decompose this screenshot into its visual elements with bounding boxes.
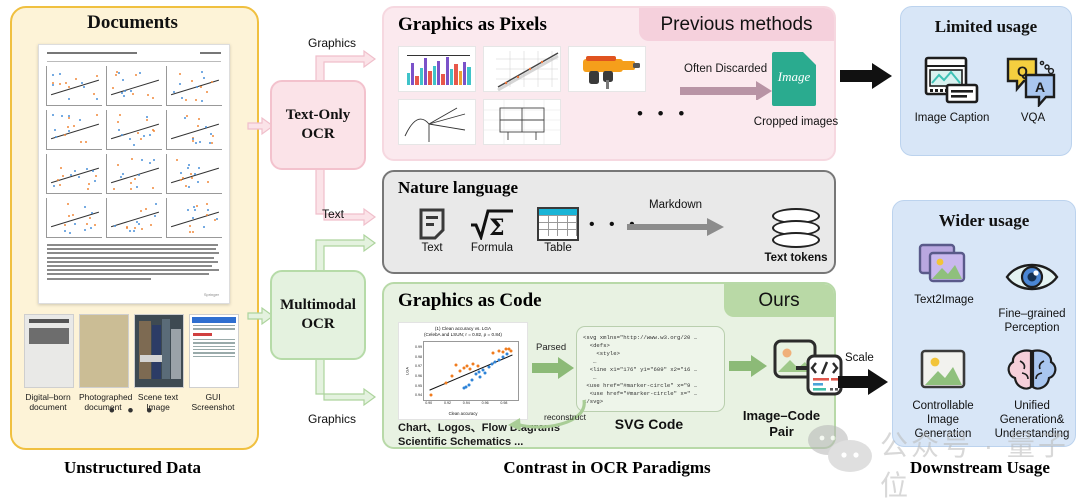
- mini-plot-dot: [184, 117, 186, 119]
- mini-plot-dot: [118, 129, 120, 131]
- page-figure-grid: [46, 66, 222, 238]
- mini-plot-dot: [188, 186, 190, 188]
- thumb-caption-line1: Digital–born: [25, 392, 70, 402]
- mini-plot-dot: [89, 217, 91, 219]
- mini-plot-dot: [139, 72, 141, 74]
- chart-point: [501, 355, 504, 358]
- mini-plot-dot: [68, 98, 70, 100]
- chart-ytick: 0.96: [415, 374, 422, 378]
- mini-plot-dot: [143, 135, 145, 137]
- pair-arrow: [729, 354, 769, 378]
- mini-plot-dot: [212, 135, 214, 137]
- mini-plot-dot: [199, 141, 201, 143]
- mini-plot-dot: [130, 90, 132, 92]
- mini-plot-dot: [138, 223, 140, 225]
- mini-plot-dot: [96, 98, 98, 100]
- markdown-label: Markdown: [649, 199, 702, 211]
- mini-plot-dot: [205, 126, 207, 128]
- mini-plot-dot: [136, 186, 138, 188]
- chart-ytick: 0.94: [415, 393, 422, 397]
- parsed-arrow: [532, 356, 576, 380]
- cropped-image-file-icon: Image: [772, 52, 816, 106]
- mini-plot-dot: [124, 90, 126, 92]
- mini-plot-dot: [94, 224, 96, 226]
- scene-text-image: [134, 314, 184, 388]
- often-discarded-arrow: [680, 78, 780, 100]
- mini-plot-dot: [207, 181, 209, 183]
- mini-plot-dot: [86, 223, 88, 225]
- chart-point: [458, 370, 461, 373]
- mini-plot-dot: [117, 164, 119, 166]
- mini-plot-dot: [132, 93, 134, 95]
- mini-plot-dot: [70, 174, 72, 176]
- mini-plot-dot: [197, 181, 199, 183]
- chart-point: [498, 359, 501, 362]
- thumbnail-item-gui-screenshot[interactable]: GUI Screenshot: [189, 314, 237, 412]
- chart-point: [469, 367, 472, 370]
- chart-point: [465, 386, 468, 389]
- mini-plot-dot: [74, 223, 76, 225]
- thumbnail-item-scene-text[interactable]: Scene text Image: [134, 314, 182, 412]
- ours-ribbon: Ours: [724, 284, 834, 317]
- chart-title-line2: (CelebA and LSUN; r = 0.82, ρ = 0.84): [424, 332, 502, 337]
- multimodal-ocr-line2: OCR: [301, 316, 334, 332]
- graphics-as-code-panel: Ours Graphics as Code (1) Clean accuracy…: [382, 282, 836, 449]
- mini-plot-dot: [206, 91, 208, 93]
- mini-plot-dot: [135, 74, 137, 76]
- mini-plot-dot: [120, 176, 122, 178]
- mini-plot-dot: [181, 97, 183, 99]
- mini-plot-dot: [173, 91, 175, 93]
- mini-plot-dot: [193, 206, 195, 208]
- chart-point: [479, 375, 482, 378]
- previous-methods-ribbon: Previous methods: [639, 8, 834, 41]
- mini-plot-dot: [146, 116, 148, 118]
- wider-usage-card: Wider usage Text2Image Fine–grained Perc…: [892, 200, 1076, 447]
- mini-plot-dot: [85, 141, 87, 143]
- mini-plot: [106, 198, 162, 238]
- mini-plot-dot: [68, 215, 70, 217]
- chart-point: [444, 382, 447, 385]
- mini-plot-dot: [200, 86, 202, 88]
- mini-plot-dot: [185, 99, 187, 101]
- pixels-ellipsis: • • •: [637, 104, 689, 124]
- controllable-image-icon: [915, 347, 971, 395]
- page-header-rule: [47, 52, 221, 62]
- mini-plot-dot: [96, 75, 98, 77]
- mini-plot-dot: [84, 206, 86, 208]
- mini-plot-dot: [75, 78, 77, 80]
- use-item-text2image[interactable]: Text2Image: [901, 241, 987, 307]
- mini-plot-dot: [54, 129, 56, 131]
- mini-plot-dot: [133, 230, 135, 232]
- mini-plot-dot: [214, 219, 216, 221]
- chart-plot-area: 0.940.950.960.970.980.990.900.920.940.96…: [423, 341, 519, 401]
- often-discarded-label: Often Discarded: [684, 63, 767, 75]
- cropped-images-caption: Cropped images: [736, 116, 856, 128]
- mini-plot-dot: [145, 208, 147, 210]
- mini-plot-dot: [94, 180, 96, 182]
- chart-point: [429, 393, 432, 396]
- chart-point: [471, 363, 474, 366]
- mini-plot-dot: [192, 231, 194, 233]
- mini-plot-dot: [52, 84, 54, 86]
- chart-point: [487, 366, 490, 369]
- text-icon: [419, 208, 445, 240]
- mini-plot-dot: [78, 176, 80, 178]
- mini-plot-dot: [134, 178, 136, 180]
- mini-plot-dot: [196, 205, 198, 207]
- mini-plot-dot: [95, 175, 97, 177]
- chart-ytick: 0.99: [415, 345, 422, 349]
- documents-ellipsis: • • •: [10, 406, 255, 416]
- mini-plot: [166, 66, 222, 106]
- thumbnail-item-digital-born[interactable]: Digital–born document: [24, 314, 72, 412]
- chart-point: [505, 352, 508, 355]
- mini-plot-dot: [67, 126, 69, 128]
- svg-text:A: A: [1035, 79, 1045, 95]
- document-page-thumbnail: Springer: [38, 44, 230, 304]
- text-tokens-caption: Text tokens: [746, 252, 846, 264]
- mini-plot-dot: [133, 144, 135, 146]
- mini-plot-dot: [195, 99, 197, 101]
- mini-plot-dot: [121, 134, 123, 136]
- mini-plot-dot: [203, 77, 205, 79]
- chart-point: [484, 371, 487, 374]
- limited-usage-title: Limited usage: [901, 17, 1071, 37]
- text-tokens-database-icon: [772, 208, 820, 252]
- mini-plot-dot: [191, 177, 193, 179]
- code-panel-title: Graphics as Code: [398, 290, 542, 312]
- mini-plot: [46, 66, 102, 106]
- edge-label-graphics-bottom: Graphics: [308, 412, 356, 426]
- chart-title-line1: (1) Clean accuracy vs. LGA: [435, 326, 491, 331]
- mini-plot-dot: [131, 158, 133, 160]
- scatter-regression-thumbnail: [483, 46, 561, 92]
- mini-plot-dot: [68, 86, 70, 88]
- mini-plot-dot: [198, 118, 200, 120]
- use-item-image-caption[interactable]: Image Caption: [909, 55, 995, 125]
- documents-title: Documents: [10, 12, 255, 34]
- mini-plot-dot: [90, 227, 92, 229]
- mini-plot-dot: [59, 73, 61, 75]
- mini-plot-dot: [203, 226, 205, 228]
- mini-plot-dot: [206, 214, 208, 216]
- text-item: Text: [400, 206, 464, 254]
- mini-plot-dot: [194, 209, 196, 211]
- pixel-thumbnail-grid: [398, 46, 646, 145]
- graphics-as-pixels-panel: Previous methods Graphics as Pixels: [382, 6, 836, 161]
- mini-plot-dot: [113, 188, 115, 190]
- pair-caption-line2: Pair: [769, 424, 794, 439]
- pair-caption-line1: Image–Code: [743, 408, 820, 423]
- mini-plot-dot: [123, 95, 125, 97]
- mini-plot-dot: [179, 83, 181, 85]
- mini-plot-dot: [211, 142, 213, 144]
- chart-point: [477, 370, 480, 373]
- scatter-thumb-svg: [484, 47, 561, 92]
- table-icon: [537, 207, 579, 241]
- thumbnail-item-photographed[interactable]: Photographed document: [79, 314, 127, 412]
- mini-plot-dot: [122, 79, 124, 81]
- image-code-pair-icon: [772, 336, 844, 400]
- image-caption-label: Image Caption: [909, 111, 995, 125]
- nature-panel-title: Nature language: [398, 178, 518, 198]
- chart-point: [494, 360, 497, 363]
- mini-plot-dot: [201, 100, 203, 102]
- mini-plot-dot: [62, 175, 64, 177]
- chart-point: [470, 378, 473, 381]
- gui-screenshot-image: [189, 314, 239, 388]
- mini-plot-dot: [210, 133, 212, 135]
- vqa-icon: Q A: [1004, 55, 1062, 107]
- mini-plot-dot: [206, 203, 208, 205]
- mini-plot-dot: [195, 142, 197, 144]
- mini-plot-dot: [152, 97, 154, 99]
- mini-plot-dot: [118, 72, 120, 74]
- chart-point: [490, 363, 493, 366]
- chart-point: [476, 364, 479, 367]
- mini-plot-dot: [189, 231, 191, 233]
- chart-point: [498, 349, 501, 352]
- mini-plot-dot: [196, 86, 198, 88]
- mini-plot-dot: [153, 130, 155, 132]
- page-body-text: [47, 244, 221, 280]
- mini-plot-dot: [92, 170, 94, 172]
- center-column-caption: Contrast in OCR Paradigms: [382, 458, 832, 478]
- mini-plot-dot: [141, 228, 143, 230]
- mini-plot: [166, 110, 222, 150]
- mini-plot-dot: [59, 83, 61, 85]
- mini-plot: [106, 66, 162, 106]
- mini-plot-dot: [146, 119, 148, 121]
- mini-plot-dot: [57, 179, 59, 181]
- vqa-label: VQA: [1001, 111, 1065, 125]
- watermark-text: 公众号 · 量子位: [880, 424, 1080, 504]
- image-caption-icon: [923, 55, 981, 107]
- limited-usage-card: Limited usage Image Caption Q A VQA: [900, 6, 1072, 156]
- use-item-vqa[interactable]: Q A VQA: [1001, 55, 1065, 125]
- mini-plot-dot: [73, 125, 75, 127]
- reconstruct-label: reconstruct: [544, 412, 586, 422]
- mini-plot-dot: [188, 164, 190, 166]
- markdown-arrow: [627, 216, 732, 236]
- mini-plot-dot: [186, 115, 188, 117]
- mini-plot-dot: [140, 138, 142, 140]
- chart-xtick: 0.90: [425, 401, 432, 405]
- parsed-label: Parsed: [536, 342, 566, 353]
- mini-plot-dot: [130, 182, 132, 184]
- source-thumbnail-list: Digital–born document Photographed docum…: [24, 314, 242, 412]
- table-item: Table: [526, 206, 590, 254]
- node-text-only-ocr[interactable]: Text-Only OCR: [270, 80, 366, 170]
- mini-plot-dot: [198, 167, 200, 169]
- mini-plot-dot: [211, 81, 213, 83]
- mini-plot-dot: [197, 125, 199, 127]
- svg-text:Σ: Σ: [489, 215, 505, 240]
- chart-point: [501, 351, 504, 354]
- mini-plot-dot: [150, 224, 152, 226]
- mini-plot-dot: [83, 86, 85, 88]
- chart-ylabel: LGA: [405, 367, 410, 375]
- mini-plot-dot: [121, 92, 123, 94]
- mini-plot: [106, 154, 162, 194]
- mini-plot-dot: [192, 217, 194, 219]
- page-footer-text: Springer: [204, 292, 219, 297]
- chart-point: [451, 375, 454, 378]
- mini-plot-dot: [59, 184, 61, 186]
- mini-plot-dot: [134, 227, 136, 229]
- chart-xtick: 0.92: [444, 401, 451, 405]
- mini-plot-dot: [187, 209, 189, 211]
- mini-plot-dot: [80, 141, 82, 143]
- drill-icon: [569, 47, 646, 92]
- mini-plot-dot: [137, 132, 139, 134]
- mini-plot-dot: [68, 117, 70, 119]
- pixels-panel-title: Graphics as Pixels: [398, 14, 547, 36]
- mini-plot-dot: [115, 74, 117, 76]
- formula-item: Σ Formula: [460, 206, 524, 254]
- mini-plot-dot: [207, 209, 209, 211]
- brain-icon: [1004, 347, 1060, 395]
- mini-plot-dot: [140, 210, 142, 212]
- mini-plot-dot: [117, 121, 119, 123]
- node-multimodal-ocr[interactable]: Multimodal OCR: [270, 270, 366, 360]
- mini-plot-dot: [136, 221, 138, 223]
- fine-grained-perception-label: Fine–grained Perception: [991, 307, 1073, 335]
- mini-plot: [46, 198, 102, 238]
- mini-plot-dot: [192, 138, 194, 140]
- mini-plot-dot: [72, 214, 74, 216]
- chart-xtick: 0.96: [482, 401, 489, 405]
- mini-plot-dot: [52, 114, 54, 116]
- left-column-caption: Unstructured Data: [10, 458, 255, 478]
- mini-plot-dot: [93, 93, 95, 95]
- circuit-diagram: [484, 100, 561, 145]
- mini-plot-dot: [129, 230, 131, 232]
- scale-label: Scale: [845, 352, 874, 364]
- nature-language-panel: Nature language Text Σ Formula: [382, 170, 836, 274]
- mini-plot-dot: [192, 140, 194, 142]
- mini-plot-dot: [55, 136, 57, 138]
- mini-plot-dot: [84, 229, 86, 231]
- thumb-caption-line1: GUI: [205, 392, 220, 402]
- mini-plot-dot: [129, 138, 131, 140]
- bar-chart-thumbnail: [398, 46, 476, 92]
- mini-plot-dot: [79, 119, 81, 121]
- mini-plot-dot: [189, 225, 191, 227]
- image-file-label: Image: [772, 69, 816, 85]
- edge-label-graphics-top: Graphics: [308, 36, 356, 50]
- table-item-label: Table: [526, 242, 590, 254]
- mini-plot-dot: [60, 167, 62, 169]
- mini-plot-dot: [187, 167, 189, 169]
- mini-plot-dot: [74, 170, 76, 172]
- mini-plot-dot: [112, 87, 114, 89]
- text-item-label: Text: [400, 242, 464, 254]
- circuit-diagram-thumbnail: [483, 99, 561, 145]
- text2image-icon: [916, 241, 972, 289]
- multimodal-ocr-line1: Multimodal: [280, 297, 356, 313]
- eye-icon: [1004, 255, 1060, 303]
- mini-plot-dot: [87, 188, 89, 190]
- mini-plot-dot: [180, 179, 182, 181]
- mini-plot-dot: [149, 134, 151, 136]
- mini-plot-dot: [64, 134, 66, 136]
- chart-point: [491, 352, 494, 355]
- geometry-diagram: [399, 100, 476, 145]
- kinds-line2: Scientific Schematics ...: [398, 436, 523, 448]
- mini-plot-dot: [154, 215, 156, 217]
- mini-plot-dot: [149, 162, 151, 164]
- mini-plot-dot: [64, 224, 66, 226]
- mini-plot-dot: [119, 114, 121, 116]
- mini-plot-dot: [130, 188, 132, 190]
- mini-plot-dot: [180, 172, 182, 174]
- chart-ytick: 0.95: [415, 384, 422, 388]
- mini-plot: [46, 154, 102, 194]
- mini-plot-dot: [185, 185, 187, 187]
- mini-plot-dot: [61, 115, 63, 117]
- mini-plot-dot: [69, 232, 71, 234]
- arrow-to-wider-usage: [838, 368, 894, 396]
- mini-plot-dot: [52, 74, 54, 76]
- drill-photo-thumbnail: [568, 46, 646, 92]
- mini-plot-dot: [64, 230, 66, 232]
- mini-plot-dot: [176, 159, 178, 161]
- text-only-ocr-line2: OCR: [301, 126, 334, 142]
- mini-plot: [106, 110, 162, 150]
- text2image-label: Text2Image: [901, 293, 987, 307]
- mini-plot-dot: [65, 82, 67, 84]
- mini-plot-dot: [153, 159, 155, 161]
- mini-plot-dot: [152, 187, 154, 189]
- wechat-watermark-icon: [800, 424, 880, 476]
- mini-plot-dot: [141, 159, 143, 161]
- mini-plot-dot: [201, 71, 203, 73]
- mini-plot: [166, 198, 222, 238]
- mini-plot-dot: [114, 225, 116, 227]
- formula-icon: Σ: [469, 208, 515, 240]
- mini-plot-dot: [96, 114, 98, 116]
- mini-plot-dot: [179, 73, 181, 75]
- mini-plot-dot: [81, 82, 83, 84]
- text-only-ocr-line1: Text-Only: [286, 107, 350, 123]
- mini-plot: [166, 154, 222, 194]
- mini-plot: [46, 110, 102, 150]
- mini-plot-dot: [138, 174, 140, 176]
- mini-plot-dot: [147, 94, 149, 96]
- mini-plot-dot: [122, 173, 124, 175]
- wider-usage-title: Wider usage: [893, 211, 1075, 231]
- chart-ytick: 0.97: [415, 364, 422, 368]
- mini-plot-dot: [53, 185, 55, 187]
- photographed-document-image: [79, 314, 129, 388]
- mini-plot-dot: [216, 218, 218, 220]
- formula-item-label: Formula: [460, 242, 524, 254]
- chart-point: [510, 349, 513, 352]
- chart-point: [468, 383, 471, 386]
- mini-plot-dot: [155, 203, 157, 205]
- mini-plot-dot: [191, 80, 193, 82]
- arrow-to-limited-usage: [840, 62, 898, 90]
- mini-plot-dot: [88, 183, 90, 185]
- digital-born-document-image: [24, 314, 74, 388]
- mini-plot-dot: [67, 203, 69, 205]
- chart-xtick: 0.94: [463, 401, 470, 405]
- geometry-diagram-thumbnail: [398, 99, 476, 145]
- edge-label-text: Text: [322, 207, 344, 221]
